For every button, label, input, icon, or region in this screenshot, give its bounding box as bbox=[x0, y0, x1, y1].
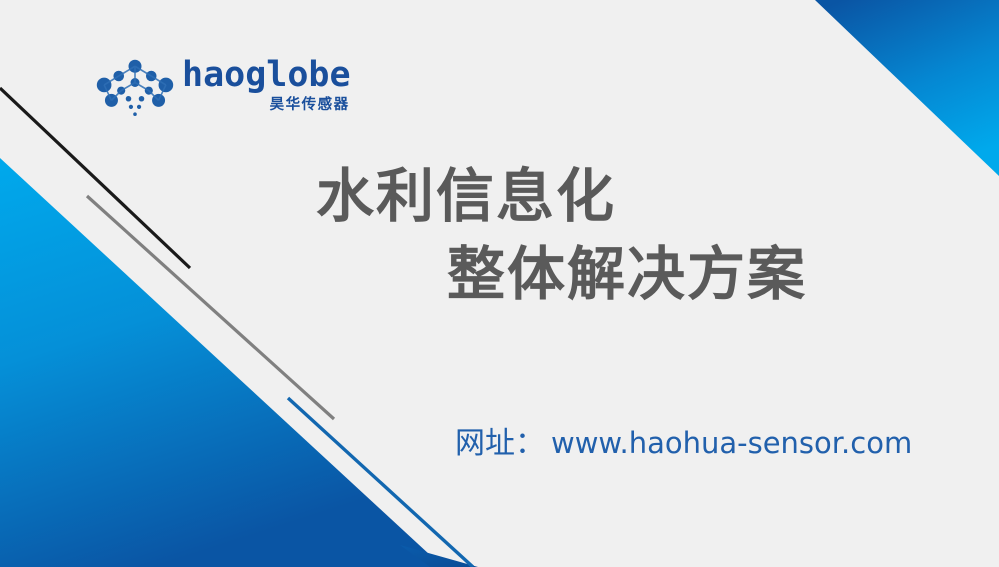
company-logo: haoglobe 昊华传感器 bbox=[96, 56, 351, 120]
haoglobe-network-nodes-icon bbox=[96, 58, 174, 120]
bottom-wedge-shape bbox=[400, 545, 478, 567]
title-line-2: 整体解决方案 bbox=[447, 241, 999, 307]
website-url[interactable]: www.haohua-sensor.com bbox=[551, 426, 912, 460]
logo-wordmark: haoglobe bbox=[182, 58, 351, 93]
logo-text-block: haoglobe 昊华传感器 bbox=[182, 58, 351, 113]
presentation-title-slide: haoglobe 昊华传感器 水利信息化 整体解决方案 网址： www.haoh… bbox=[0, 0, 999, 567]
top-right-triangle-shape bbox=[815, 0, 999, 176]
logo-chinese-name: 昊华传感器 bbox=[270, 98, 350, 113]
page-title: 水利信息化 整体解决方案 bbox=[0, 163, 999, 307]
accent-line-blue bbox=[288, 398, 473, 567]
website-row: 网址： www.haohua-sensor.com bbox=[455, 418, 912, 462]
title-line-1: 水利信息化 bbox=[316, 163, 999, 229]
website-label: 网址： bbox=[455, 418, 545, 462]
